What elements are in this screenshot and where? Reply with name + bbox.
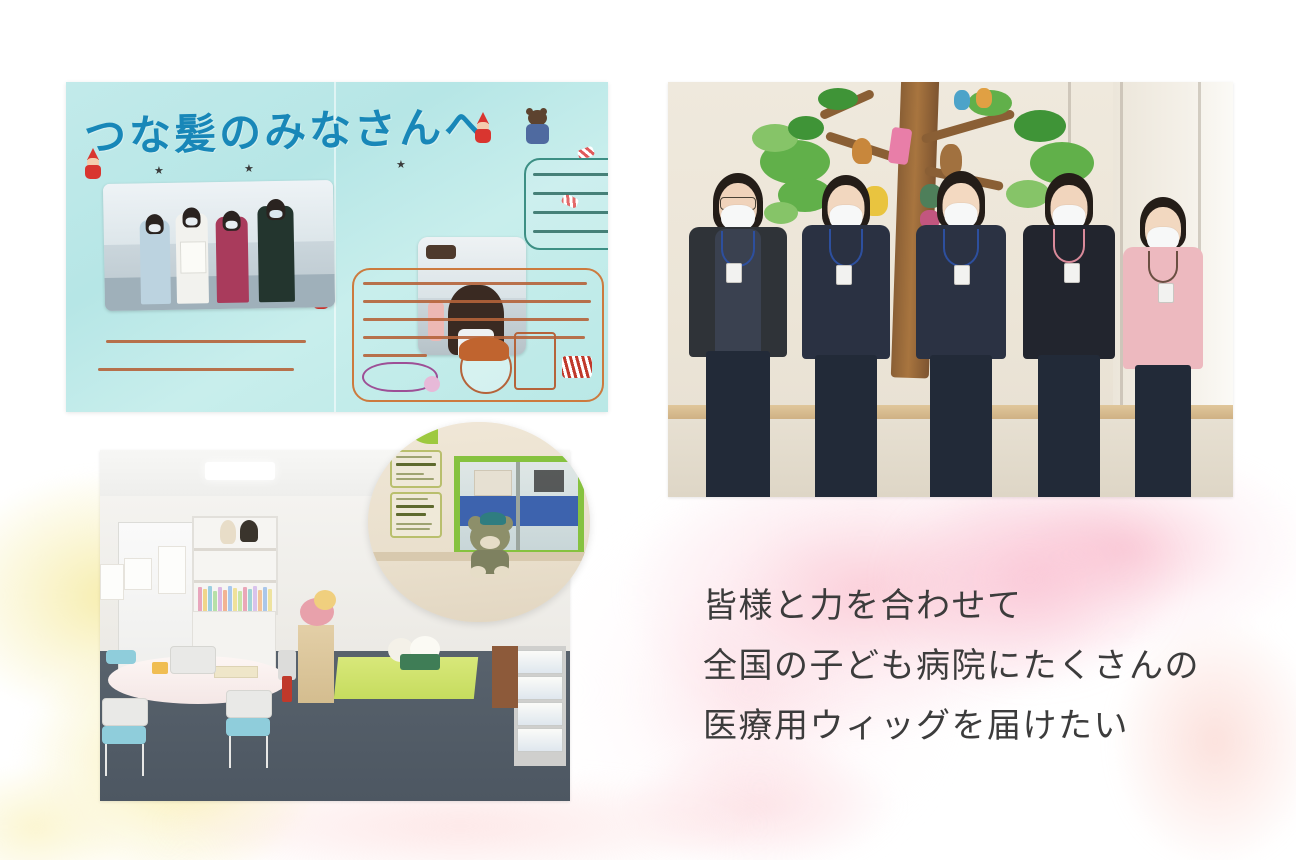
poster-title: つな髪のみなさんへ: [83, 93, 489, 165]
flower-doodle: [424, 376, 440, 392]
wall-notice: [124, 558, 152, 590]
tree-leaves: [788, 116, 824, 140]
interior-poster: [534, 470, 564, 492]
bookshelf: [192, 516, 278, 615]
document-tray: [214, 666, 258, 678]
headline-message: 皆様と力を合わせて 全国の子ども病院にたくさんの 医療用ウィッグを届けたい: [703, 576, 1263, 756]
poster-speech-note: 復学先の先生に、ウィッグだってバレなかったよ 良いアイテムをゲットできて ちょー…: [524, 158, 608, 250]
message-line-3: 医療用ウィッグを届けたい: [703, 696, 1263, 756]
wall-notice: [158, 546, 186, 594]
doorway: [492, 646, 518, 708]
sign-nursing-consultation-room: 看護相談室: [390, 450, 442, 488]
heart-doodle: [562, 356, 592, 378]
poster-kid-note: ありがとうございます: [514, 332, 556, 390]
wall-notice: [100, 564, 124, 600]
poster-kid-drawing: [460, 342, 512, 394]
nurse-person: [798, 167, 894, 497]
teddy-bear-plush: [464, 510, 516, 574]
tree-leaves: [818, 88, 858, 110]
page-root: つな髪のみなさんへ ★ ★ ★ ★: [0, 0, 1296, 860]
message-line-1: 皆様と力を合わせて: [703, 576, 1263, 636]
window-divider: [516, 462, 520, 550]
owl-mural: [954, 90, 970, 110]
star-sticker: ★: [244, 164, 254, 175]
owl-mural: [976, 88, 992, 108]
nurse-person: [912, 167, 1010, 497]
display-pedestal: [298, 625, 334, 703]
ceiling-light: [205, 462, 275, 480]
nurses-group-photo: [668, 82, 1233, 497]
poster-photo-staff: [103, 180, 335, 311]
tree-leaves: [1014, 110, 1066, 142]
hanging-sign: [474, 470, 512, 496]
thank-you-poster: つな髪のみなさんへ ★ ★ ★ ★: [66, 82, 608, 412]
poster-main-message: ずっとロングヘアだった娘。ウィッグを被り嬉しそうに鏡を見ていました。離れている家…: [352, 268, 604, 402]
sign-cancer-support-room: がん相談支援室: [390, 492, 442, 538]
fire-extinguisher: [282, 676, 292, 702]
star-sticker: ★: [154, 166, 164, 177]
nurse-person: [1020, 167, 1118, 497]
magazine-rack: [514, 646, 566, 766]
squirrel-mural: [852, 138, 872, 164]
nurse-person: [686, 167, 790, 497]
oval-inset-photo: 看護相談室 がん相談支援室: [368, 422, 590, 622]
tissue-box: [152, 662, 168, 674]
nurse-person: [1120, 177, 1206, 497]
star-sticker: ★: [396, 160, 406, 171]
toy-basket: [400, 654, 440, 670]
plush-toys: [314, 590, 336, 610]
poster-bottom-message: 素敵なクリスマスプレゼントをくださり、ありがとうございました。: [98, 336, 322, 386]
message-line-2: 全国の子ども病院にたくさんの: [703, 636, 1263, 696]
